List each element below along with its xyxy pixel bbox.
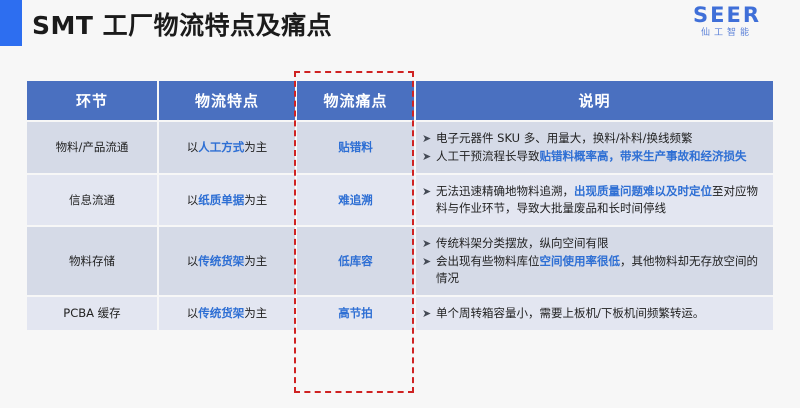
cell-description: ➤单个周转箱容量小，需要上板机/下板机间频繁转运。 (416, 297, 773, 330)
table-row: 物料存储以传统货架为主低库容➤传统料架分类摆放，纵向空间有限➤会出现有些物料库位… (27, 227, 773, 295)
feature-keyword: 传统货架 (198, 254, 244, 268)
cell-stage: 物料/产品流通 (27, 122, 157, 173)
pain-point-label: 低库容 (338, 254, 373, 268)
column-header-pain: 物流痛点 (297, 81, 414, 120)
cell-feature: 以传统货架为主 (159, 297, 295, 330)
bullet-text: 会出现有些物料库位空间使用率很低，其他物料却无存放空间的情况 (436, 253, 767, 287)
bullet-plain-segment: 无法迅速精确地物料追溯， (436, 184, 574, 198)
description-bullet: ➤单个周转箱容量小，需要上板机/下板机间频繁转运。 (422, 305, 767, 322)
description-bullet: ➤传统料架分类摆放，纵向空间有限 (422, 235, 767, 252)
feature-prefix: 以 (187, 140, 199, 154)
bullet-text: 传统料架分类摆放，纵向空间有限 (436, 235, 767, 252)
title-accent-bar (0, 0, 22, 46)
page-title: SMT 工厂物流特点及痛点 (32, 6, 332, 42)
table-body: 物料/产品流通以人工方式为主贴错料➤电子元器件 SKU 多、用量大，换料/补料/… (27, 122, 773, 330)
feature-keyword: 人工方式 (198, 140, 244, 154)
column-header-description: 说明 (416, 81, 773, 120)
brand-logo: SEER 仙工智能 (672, 4, 782, 39)
arrow-bullet-icon: ➤ (422, 253, 436, 270)
smt-logistics-table: 环节 物流特点 物流痛点 说明 物料/产品流通以人工方式为主贴错料➤电子元器件 … (25, 79, 775, 332)
feature-suffix: 为主 (244, 193, 267, 207)
bullet-plain-segment: 人工干预流程长导致 (436, 149, 540, 163)
table-header-row: 环节 物流特点 物流痛点 说明 (27, 81, 773, 120)
column-header-stage: 环节 (27, 81, 157, 120)
logo-wordmark: SEER (672, 4, 782, 26)
cell-feature: 以传统货架为主 (159, 227, 295, 295)
description-bullet: ➤会出现有些物料库位空间使用率很低，其他物料却无存放空间的情况 (422, 253, 767, 287)
cell-pain-point: 高节拍 (297, 297, 414, 330)
feature-prefix: 以 (187, 193, 199, 207)
logo-subtitle: 仙工智能 (672, 28, 782, 39)
cell-pain-point: 难追溯 (297, 175, 414, 225)
arrow-bullet-icon: ➤ (422, 305, 436, 322)
cell-stage: PCBA 缓存 (27, 297, 157, 330)
cell-description: ➤无法迅速精确地物料追溯，出现质量问题难以及时定位至对应物料与作业环节，导致大批… (416, 175, 773, 225)
arrow-bullet-icon: ➤ (422, 148, 436, 165)
table-header: 环节 物流特点 物流痛点 说明 (27, 81, 773, 120)
description-bullet: ➤电子元器件 SKU 多、用量大，换料/补料/换线频繁 (422, 130, 767, 147)
bullet-highlight-segment: 出现质量问题难以及时定位 (574, 184, 712, 198)
cell-description: ➤传统料架分类摆放，纵向空间有限➤会出现有些物料库位空间使用率很低，其他物料却无… (416, 227, 773, 295)
pain-point-label: 难追溯 (338, 193, 373, 207)
cell-stage: 物料存储 (27, 227, 157, 295)
pain-point-label: 高节拍 (338, 306, 373, 320)
page-header: SMT 工厂物流特点及痛点 SEER 仙工智能 (0, 0, 800, 58)
cell-pain-point: 低库容 (297, 227, 414, 295)
table-row: PCBA 缓存以传统货架为主高节拍➤单个周转箱容量小，需要上板机/下板机间频繁转… (27, 297, 773, 330)
feature-suffix: 为主 (244, 306, 267, 320)
feature-keyword: 传统货架 (198, 306, 244, 320)
table-row: 信息流通以纸质单据为主难追溯➤无法迅速精确地物料追溯，出现质量问题难以及时定位至… (27, 175, 773, 225)
bullet-plain-segment: 传统料架分类摆放，纵向空间有限 (436, 236, 609, 250)
feature-prefix: 以 (187, 306, 199, 320)
cell-stage: 信息流通 (27, 175, 157, 225)
bullet-text: 电子元器件 SKU 多、用量大，换料/补料/换线频繁 (436, 130, 767, 147)
bullet-text: 人工干预流程长导致贴错料概率高，带来生产事故和经济损失 (436, 148, 767, 165)
bullet-highlight-segment: 贴错料概率高，带来生产事故和经济损失 (540, 149, 747, 163)
feature-prefix: 以 (187, 254, 199, 268)
cell-description: ➤电子元器件 SKU 多、用量大，换料/补料/换线频繁➤人工干预流程长导致贴错料… (416, 122, 773, 173)
feature-suffix: 为主 (244, 254, 267, 268)
bullet-plain-segment: 电子元器件 SKU 多、用量大，换料/补料/换线频繁 (436, 131, 693, 145)
pain-point-label: 贴错料 (338, 140, 373, 154)
description-bullet: ➤无法迅速精确地物料追溯，出现质量问题难以及时定位至对应物料与作业环节，导致大批… (422, 183, 767, 217)
bullet-text: 单个周转箱容量小，需要上板机/下板机间频繁转运。 (436, 305, 767, 322)
description-bullet: ➤人工干预流程长导致贴错料概率高，带来生产事故和经济损失 (422, 148, 767, 165)
feature-keyword: 纸质单据 (198, 193, 244, 207)
table-row: 物料/产品流通以人工方式为主贴错料➤电子元器件 SKU 多、用量大，换料/补料/… (27, 122, 773, 173)
arrow-bullet-icon: ➤ (422, 183, 436, 200)
bullet-highlight-segment: 空间使用率很低 (540, 254, 621, 268)
bullet-text: 无法迅速精确地物料追溯，出现质量问题难以及时定位至对应物料与作业环节，导致大批量… (436, 183, 767, 217)
arrow-bullet-icon: ➤ (422, 130, 436, 147)
cell-feature: 以人工方式为主 (159, 122, 295, 173)
bullet-plain-segment: 会出现有些物料库位 (436, 254, 540, 268)
cell-feature: 以纸质单据为主 (159, 175, 295, 225)
feature-suffix: 为主 (244, 140, 267, 154)
cell-pain-point: 贴错料 (297, 122, 414, 173)
bullet-plain-segment: 单个周转箱容量小，需要上板机/下板机间频繁转运。 (436, 306, 704, 320)
arrow-bullet-icon: ➤ (422, 235, 436, 252)
column-header-feature: 物流特点 (159, 81, 295, 120)
